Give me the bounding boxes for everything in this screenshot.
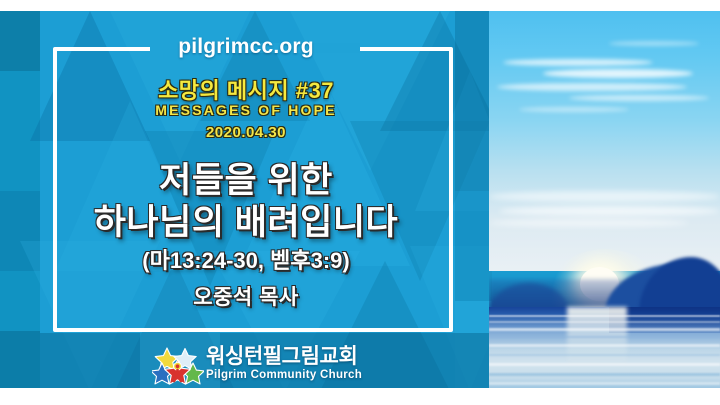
series-title-english: MESSAGES OF HOPE — [0, 102, 492, 118]
church-name-block: 워싱턴필그림교회 Pilgrim Community Church — [206, 345, 382, 382]
scripture-reference: (마13:24-30, 벧후3:9) — [0, 243, 492, 275]
sermon-title-line2: 하나님의 배려입니다 — [0, 194, 492, 245]
church-logo: 워싱턴필그림교회 Pilgrim Community Church — [152, 344, 382, 388]
church-name-korean: 워싱턴필그림교회 — [206, 345, 382, 368]
sunrise-over-water-photo — [489, 11, 720, 388]
site-url: pilgrimcc.org — [0, 35, 492, 59]
church-name-english: Pilgrim Community Church — [206, 368, 382, 382]
series-title-korean: 소망의 메시지 #37 — [0, 73, 492, 105]
speaker-name: 오중석 목사 — [0, 281, 492, 311]
sermon-date: 2020.04.30 — [0, 124, 492, 141]
star-cluster-person-icon — [152, 346, 204, 388]
sermon-slide: pilgrimcc.org 소망의 메시지 #37 MESSAGES OF HO… — [0, 11, 720, 388]
